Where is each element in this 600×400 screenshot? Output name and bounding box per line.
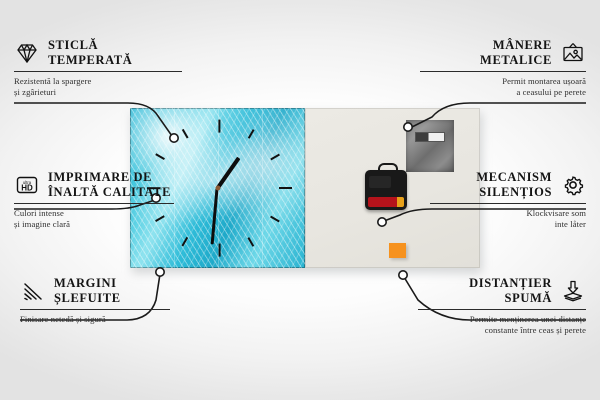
ultra-hd-main-label: HD: [21, 183, 33, 192]
title-line-2: TEMPERATĂ: [48, 53, 132, 68]
callout-subtitle: Permit montarea ușoară a ceasului pe per…: [420, 76, 586, 100]
minute-hand: [211, 188, 219, 244]
press-down-stack-icon: [560, 279, 586, 303]
gear-icon: [560, 173, 586, 197]
sub-line-1: Culori intense: [14, 208, 174, 220]
movement-hook: [378, 163, 398, 175]
title-line-1: IMPRIMARE DE: [48, 170, 171, 185]
foam-spacer-pad: [389, 243, 406, 258]
callout-polished-edges: MARGINI ȘLEFUITE Finisare netedă și sigu…: [20, 276, 170, 325]
callout-title: DISTANȚIER SPUMĂ: [469, 276, 552, 306]
title-line-1: STICLĂ: [48, 38, 132, 53]
callout-divider: [14, 203, 174, 204]
metal-hanger: [406, 120, 454, 172]
sub-line-2: și imagine clară: [14, 219, 174, 231]
sub-line-1: Permite menținerea unei distanțe: [418, 314, 586, 326]
callout-metal-handles: MÂNERE METALICE Permit montarea ușoară a…: [420, 38, 586, 99]
callout-title: MÂNERE METALICE: [480, 38, 552, 68]
callout-divider: [14, 71, 182, 72]
callout-header: MÂNERE METALICE: [420, 38, 586, 68]
sub-line-1: Klockvisare som: [430, 208, 586, 220]
callout-subtitle: Permite menținerea unei distanțe constan…: [418, 314, 586, 338]
callout-tempered-glass: STICLĂ TEMPERATĂ Rezistentă la spargere …: [14, 38, 182, 99]
clock-center-pin: [215, 186, 220, 191]
callout-header: MARGINI ȘLEFUITE: [20, 276, 170, 306]
callout-title: IMPRIMARE DE ÎNALTĂ CALITATE: [48, 170, 171, 200]
callout-silent-mechanism: MECANISM SILENȚIOS Klockvisare som inte …: [430, 170, 586, 231]
callout-print-quality: ultra HD IMPRIMARE DE ÎNALTĂ CALITATE Cu…: [14, 170, 174, 231]
callout-subtitle: Rezistentă la spargere și zgârieturi: [14, 76, 182, 100]
title-line-2: ȘLEFUITE: [54, 291, 121, 306]
sub-line-2: a ceasului pe perete: [420, 87, 586, 99]
movement-housing: [369, 176, 391, 188]
callout-divider: [418, 309, 586, 310]
battery: [368, 197, 404, 207]
callout-subtitle: Culori intense și imagine clară: [14, 208, 174, 232]
title-line-1: MARGINI: [54, 276, 121, 291]
callout-title: MARGINI ȘLEFUITE: [54, 276, 121, 306]
hanging-frame-icon: [560, 41, 586, 65]
callout-divider: [430, 203, 586, 204]
diamond-icon: [14, 41, 40, 65]
title-line-1: MECANISM: [476, 170, 552, 185]
sub-line-2: constante între ceas și perete: [418, 325, 586, 337]
sub-line-1: Finisare netedă și sigură: [20, 314, 170, 326]
infographic-canvas: STICLĂ TEMPERATĂ Rezistentă la spargere …: [0, 0, 600, 400]
callout-divider: [20, 309, 170, 310]
callout-divider: [420, 71, 586, 72]
diagonal-lines-icon: [20, 279, 46, 303]
callout-subtitle: Finisare netedă și sigură: [20, 314, 170, 326]
sub-line-1: Rezistentă la spargere: [14, 76, 182, 88]
callout-subtitle: Klockvisare som inte låter: [430, 208, 586, 232]
callout-title: STICLĂ TEMPERATĂ: [48, 38, 132, 68]
ultra-hd-icon: ultra HD: [14, 173, 40, 197]
title-line-2: SPUMĂ: [469, 291, 552, 306]
callout-header: DISTANȚIER SPUMĂ: [418, 276, 586, 306]
callout-header: STICLĂ TEMPERATĂ: [14, 38, 182, 68]
callout-title: MECANISM SILENȚIOS: [476, 170, 552, 200]
title-line-2: SILENȚIOS: [476, 185, 552, 200]
title-line-1: DISTANȚIER: [469, 276, 552, 291]
product-image: [130, 108, 480, 268]
sub-line-1: Permit montarea ușoară: [420, 76, 586, 88]
clock-movement: [365, 170, 407, 210]
sub-line-2: inte låter: [430, 219, 586, 231]
callout-header: MECANISM SILENȚIOS: [430, 170, 586, 200]
title-line-2: METALICE: [480, 53, 552, 68]
sub-line-2: și zgârieturi: [14, 87, 182, 99]
title-line-1: MÂNERE: [480, 38, 552, 53]
hanger-slot: [415, 132, 445, 142]
callout-foam-spacer: DISTANȚIER SPUMĂ Permite menținerea unei…: [418, 276, 586, 337]
callout-header: ultra HD IMPRIMARE DE ÎNALTĂ CALITATE: [14, 170, 174, 200]
title-line-2: ÎNALTĂ CALITATE: [48, 185, 171, 200]
